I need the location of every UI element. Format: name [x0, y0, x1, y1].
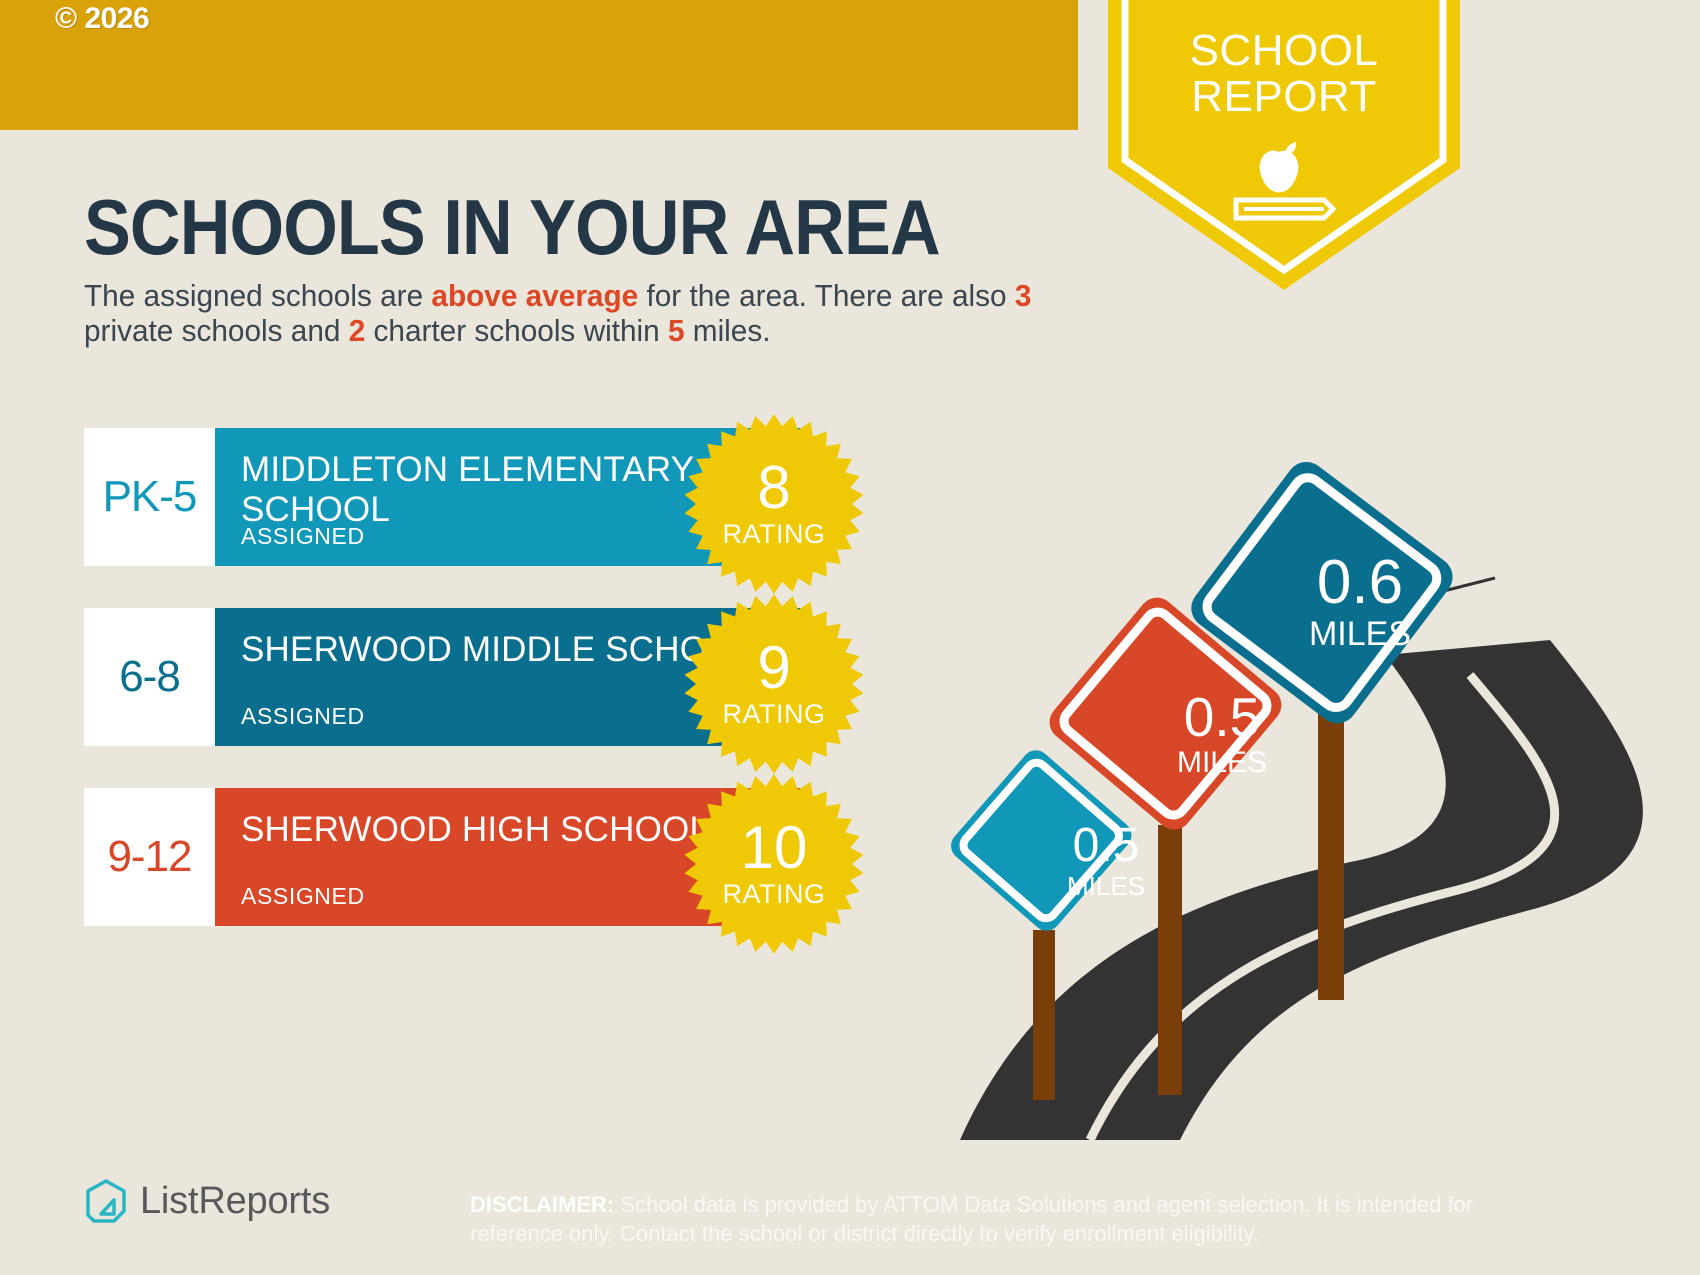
page-title: SCHOOLS IN YOUR AREA — [84, 186, 940, 268]
grade-range-label: 6-8 — [119, 652, 180, 702]
school-name-label: SHERWOOD HIGH SCHOOL — [241, 810, 761, 850]
summary-part-4: charter schools within — [365, 313, 668, 348]
summary-part-1: The assigned schools are — [84, 278, 431, 313]
assigned-label: ASSIGNED — [241, 703, 365, 730]
listreports-logo[interactable]: ListReports — [84, 1178, 330, 1224]
disclaimer-text: DISCLAIMER: School data is provided by A… — [470, 1190, 1480, 1248]
grade-range-box: PK-5 — [84, 428, 215, 566]
grade-range-label: 9-12 — [107, 832, 191, 882]
school-name-label: MIDDLETON ELEMENTARY SCHOOL — [241, 450, 761, 530]
assigned-label: ASSIGNED — [241, 883, 365, 910]
rating-starburst: 10 RATING — [684, 774, 864, 954]
summary-text: The assigned schools are above average f… — [84, 278, 1054, 348]
school-name-label: SHERWOOD MIDDLE SCHOOL — [241, 630, 761, 670]
summary-highlight-charter-count: 2 — [349, 313, 366, 348]
summary-part-2: for the area. There are also — [638, 278, 1015, 313]
school-report-infographic: © 2026 17954 SW MANDEL LN, SHERWOOD, OR … — [0, 0, 1700, 1275]
rating-starburst: 8 RATING — [684, 414, 864, 594]
copyright-label: © 2026 — [55, 2, 149, 36]
grade-range-box: 9-12 — [84, 788, 215, 926]
disclaimer-label: DISCLAIMER: — [470, 1192, 614, 1217]
road-signs-illustration: 0.5 MILES 0.5 MILES 0.6 MILES — [930, 440, 1700, 1140]
summary-part-3: private schools and — [84, 313, 349, 348]
assigned-label: ASSIGNED — [241, 523, 365, 550]
listreports-wordmark: ListReports — [140, 1180, 330, 1223]
header-bar — [0, 0, 1078, 130]
grade-range-label: PK-5 — [103, 472, 197, 522]
listreports-house-icon — [84, 1178, 128, 1224]
summary-highlight-above-average: above average — [431, 278, 638, 313]
school-report-badge: SCHOOL REPORT — [1108, 0, 1460, 290]
summary-part-5: miles. — [685, 313, 771, 348]
summary-highlight-radius: 5 — [668, 313, 685, 348]
summary-highlight-private-count: 3 — [1015, 278, 1032, 313]
disclaimer-body: School data is provided by ATTOM Data So… — [470, 1192, 1473, 1246]
rating-starburst: 9 RATING — [684, 594, 864, 774]
grade-range-box: 6-8 — [84, 608, 215, 746]
